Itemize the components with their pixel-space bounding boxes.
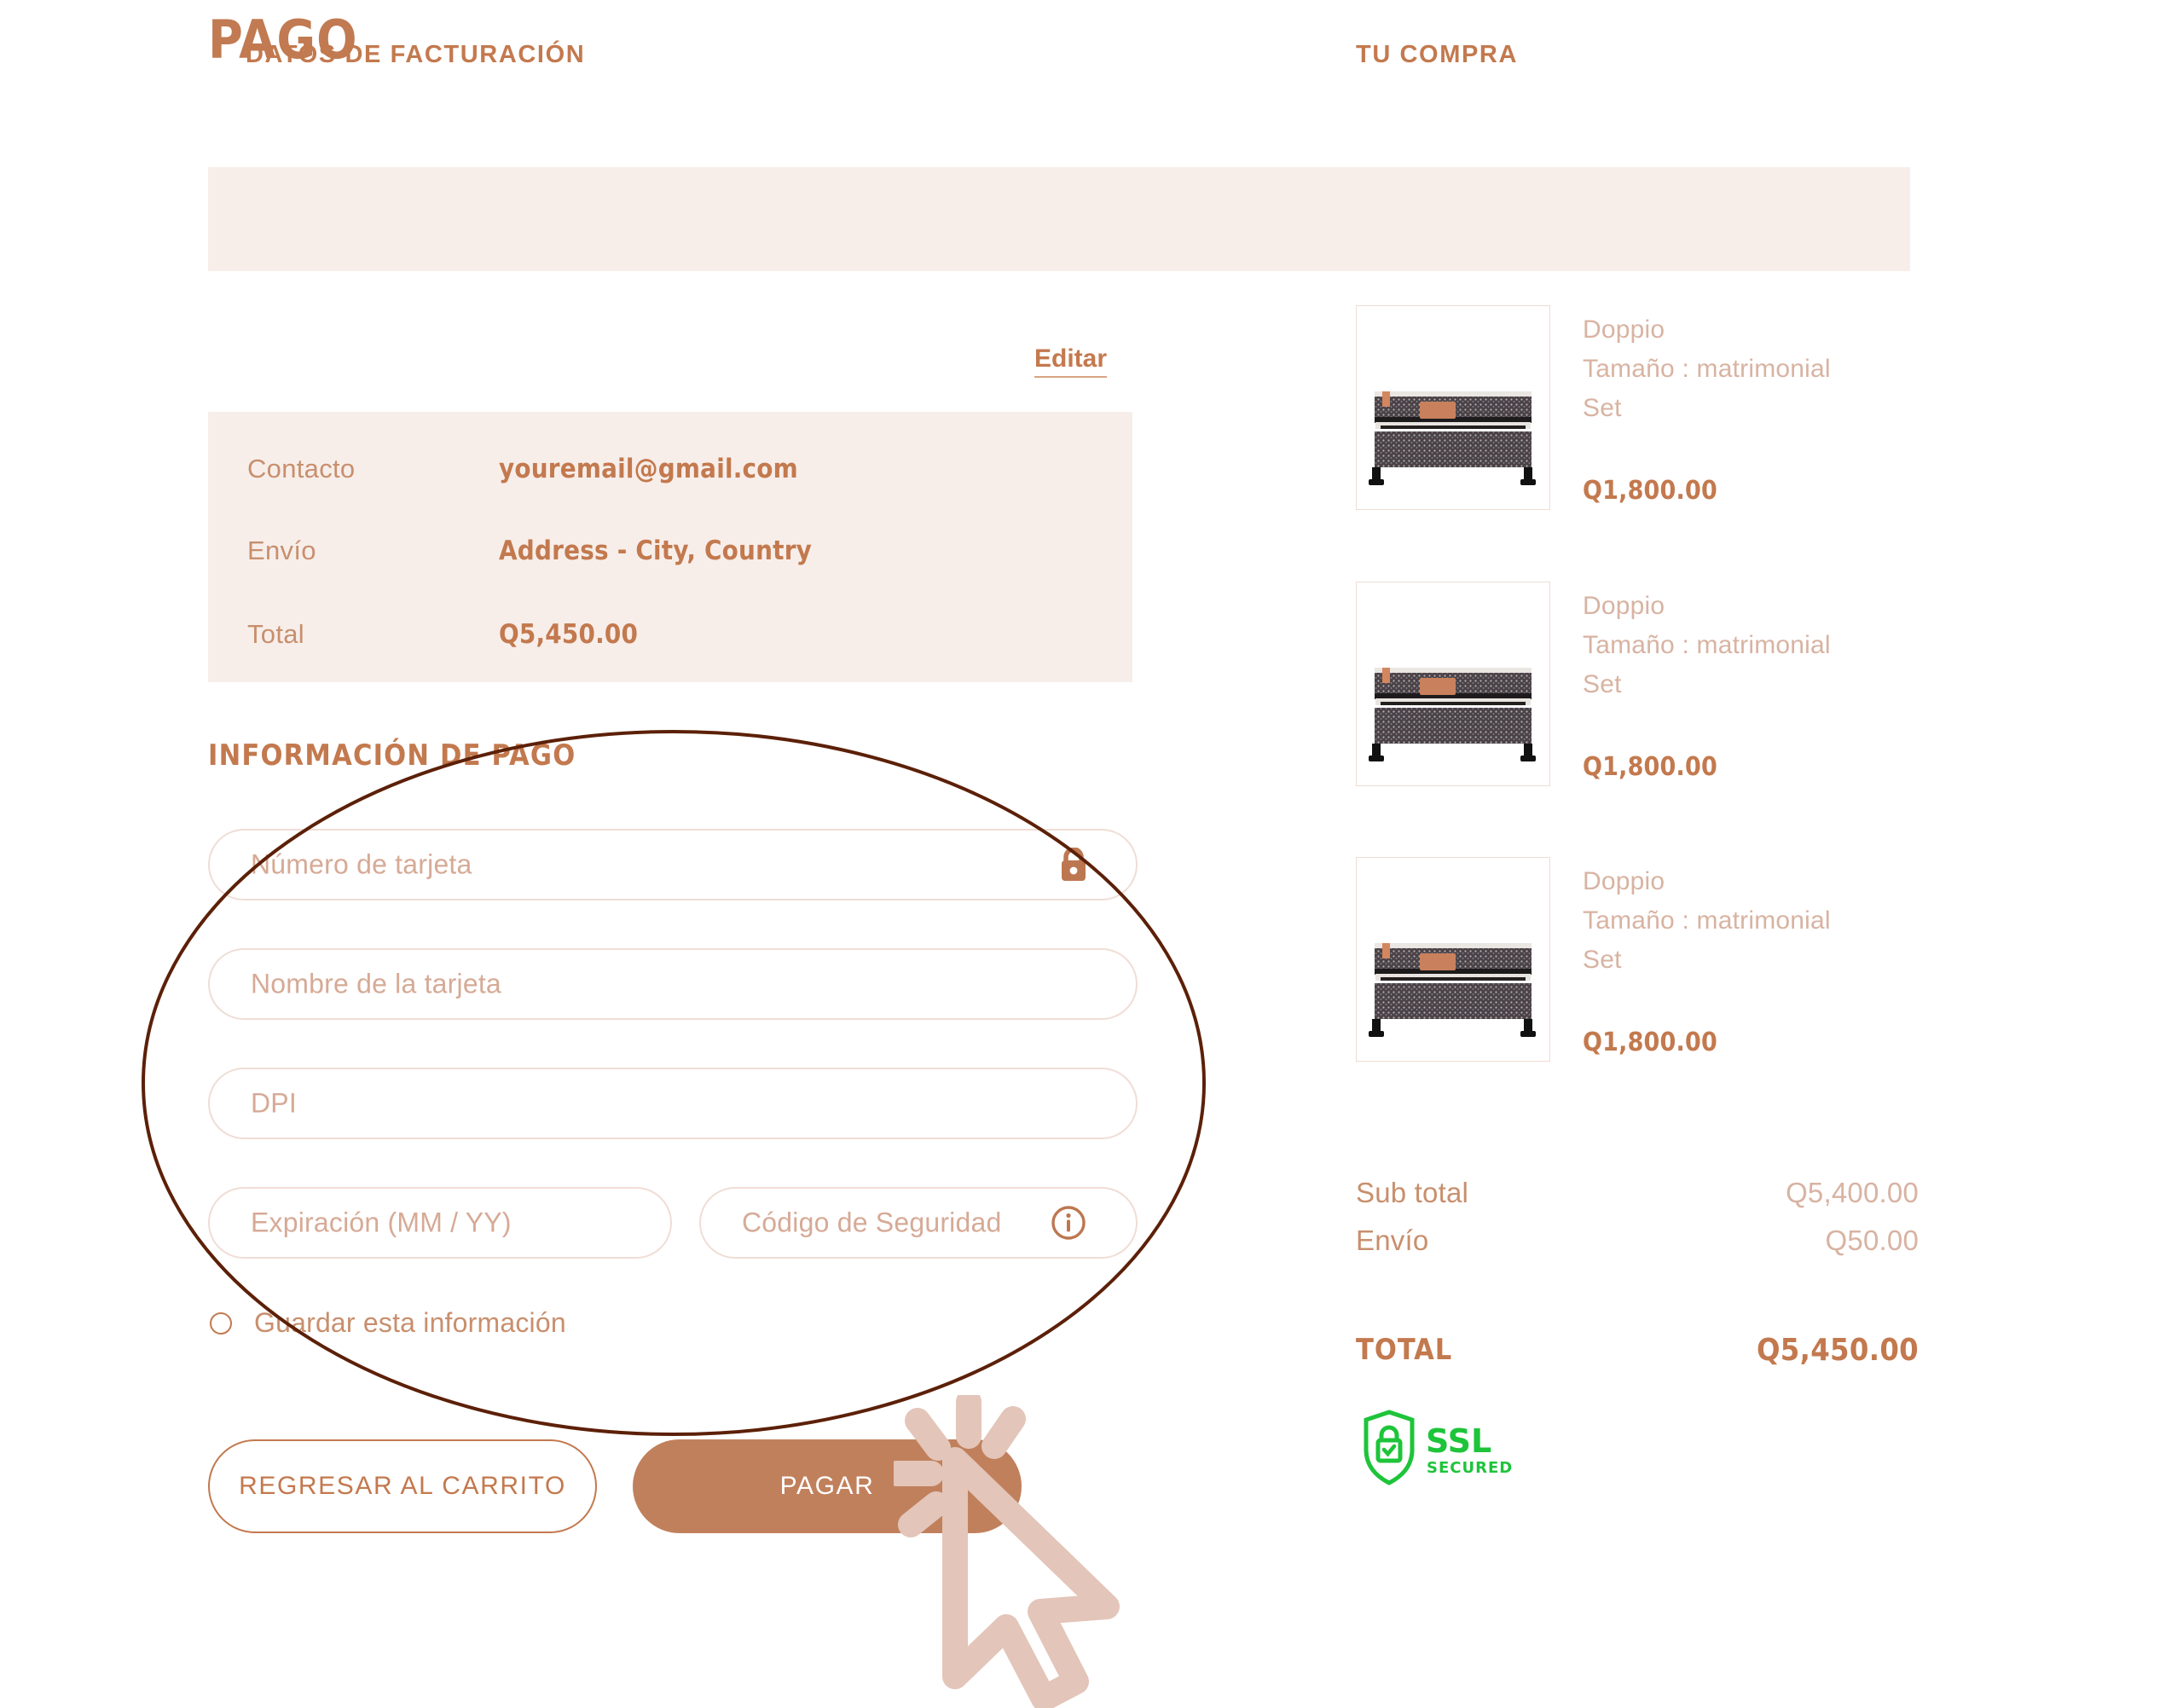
info-icon[interactable] <box>1051 1205 1086 1241</box>
billing-section-label: DATOS DE FACTURACIÓN <box>246 41 585 69</box>
ssl-badge-line2: SECURED <box>1427 1459 1513 1477</box>
product-size: Tamaño : matrimonial <box>1583 350 1924 389</box>
product-description: Doppio Tamaño : matrimonial Set <box>1583 587 1924 704</box>
product-description: Doppio Tamaño : matrimonial Set <box>1583 862 1924 980</box>
lock-icon <box>1059 848 1088 882</box>
product-size: Tamaño : matrimonial <box>1583 901 1924 941</box>
mattress-set-illustration <box>1357 306 1549 509</box>
product-thumbnail <box>1356 582 1550 786</box>
expiration-placeholder: Expiración (MM / YY) <box>251 1207 512 1239</box>
checkout-page: PAGO DATOS DE FACTURACIÓN TU COMPRA Edit… <box>0 0 2183 1708</box>
product-name: Doppio <box>1583 310 1924 350</box>
product-description: Doppio Tamaño : matrimonial Set <box>1583 310 1924 428</box>
summary-label: Total <box>247 619 304 650</box>
billing-summary-box: Contacto youremail@gmail.com Envío Addre… <box>208 412 1132 682</box>
summary-label: Envío <box>247 536 316 566</box>
card-number-input[interactable]: Número de tarjeta <box>208 829 1138 900</box>
product-variant: Set <box>1583 389 1924 428</box>
grand-total-label: TOTAL <box>1356 1333 1452 1367</box>
ssl-secured-badge: SSL SECURED <box>1358 1405 1520 1491</box>
purchase-section-label: TU COMPRA <box>1356 41 1518 69</box>
card-name-placeholder: Nombre de la tarjeta <box>251 969 501 1000</box>
product-variant: Set <box>1583 941 1924 980</box>
product-size: Tamaño : matrimonial <box>1583 626 1924 665</box>
summary-value: Address - City, Country <box>499 536 812 566</box>
card-number-placeholder: Número de tarjeta <box>251 849 472 881</box>
mattress-set-illustration <box>1357 858 1549 1061</box>
card-name-input[interactable]: Nombre de la tarjeta <box>208 948 1138 1020</box>
save-info-label: Guardar esta información <box>254 1307 566 1339</box>
shipping-label: Envío <box>1356 1225 1428 1257</box>
payment-info-heading: INFORMACIÓN DE PAGO <box>208 738 576 773</box>
security-code-input[interactable]: Código de Seguridad <box>699 1187 1138 1259</box>
billing-section-bar <box>208 167 1146 271</box>
product-price: Q1,800.00 <box>1583 476 1717 506</box>
dpi-placeholder: DPI <box>251 1088 297 1120</box>
ssl-badge-line1: SSL <box>1426 1422 1491 1460</box>
subtotal-value: Q5,400.00 <box>1786 1177 1919 1209</box>
product-thumbnail <box>1356 305 1550 510</box>
summary-value: youremail@gmail.com <box>499 454 798 484</box>
product-price: Q1,800.00 <box>1583 1028 1717 1057</box>
product-name: Doppio <box>1583 587 1924 626</box>
security-code-placeholder: Código de Seguridad <box>742 1207 1001 1239</box>
dpi-input[interactable]: DPI <box>208 1068 1138 1139</box>
product-variant: Set <box>1583 665 1924 704</box>
grand-total-value: Q5,450.00 <box>1757 1333 1919 1368</box>
edit-billing-link[interactable]: Editar <box>1034 344 1107 378</box>
expiration-input[interactable]: Expiración (MM / YY) <box>208 1187 672 1259</box>
shipping-value: Q50.00 <box>1826 1225 1919 1257</box>
product-price: Q1,800.00 <box>1583 752 1717 782</box>
save-info-row[interactable]: Guardar esta información <box>210 1307 566 1339</box>
save-info-checkbox[interactable] <box>210 1312 232 1335</box>
product-thumbnail <box>1356 857 1550 1062</box>
back-to-cart-button[interactable]: REGRESAR AL CARRITO <box>208 1439 597 1533</box>
purchase-section-bar <box>1146 167 1910 271</box>
product-name: Doppio <box>1583 862 1924 901</box>
subtotal-label: Sub total <box>1356 1177 1468 1209</box>
summary-value: Q5,450.00 <box>499 619 638 650</box>
pay-button[interactable]: PAGAR <box>633 1439 1022 1533</box>
mattress-set-illustration <box>1357 582 1549 785</box>
summary-label: Contacto <box>247 454 355 484</box>
